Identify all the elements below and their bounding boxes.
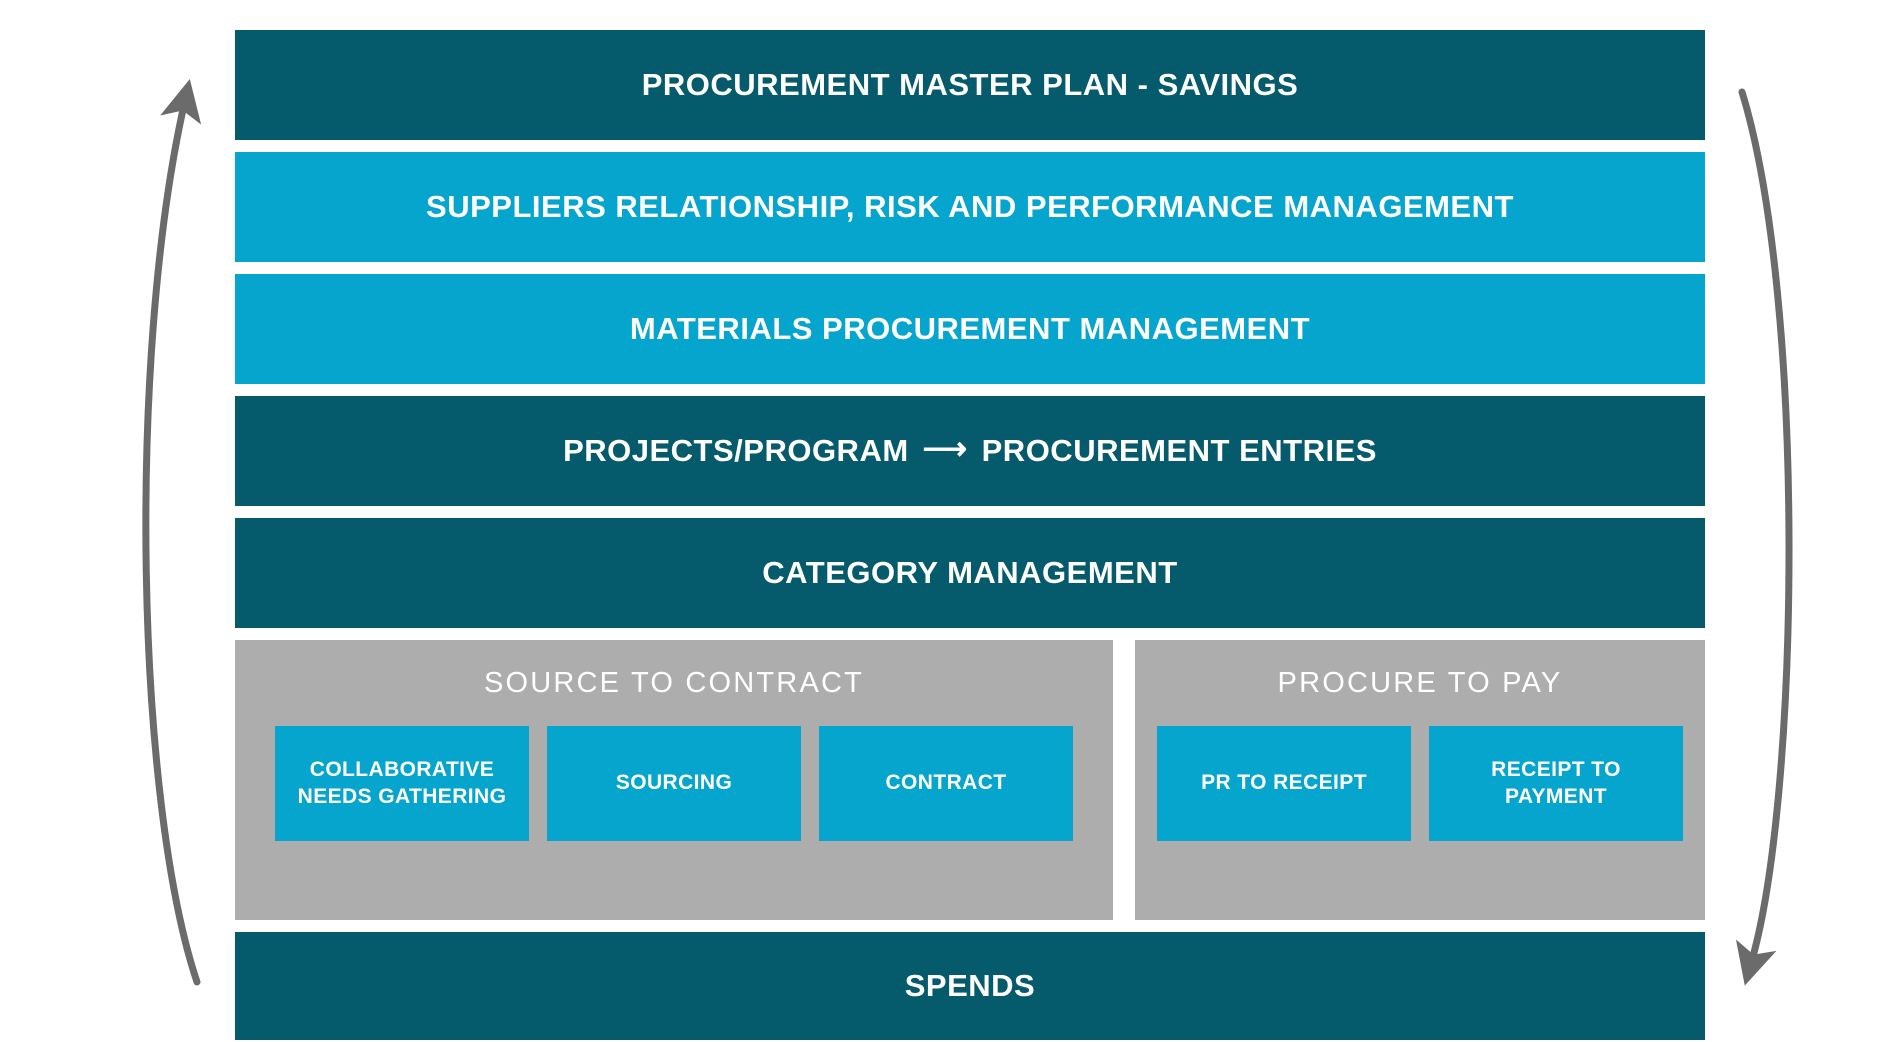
panel-source-to-contract[interactable]: SOURCE TO CONTRACT COLLABORATIVE NEEDS G… [235, 640, 1113, 920]
left-cycle-arrow-up [146, 105, 197, 982]
diagram-stack: PROCUREMENT MASTER PLAN - SAVINGS SUPPLI… [235, 30, 1705, 1040]
sub-box-label: RECEIPT TO PAYMENT [1439, 757, 1673, 810]
row-spends[interactable]: SPENDS [235, 932, 1705, 1040]
sub-box-label: PR TO RECEIPT [1201, 770, 1367, 796]
sub-box-contract[interactable]: CONTRACT [819, 726, 1073, 841]
row-procurement-master-plan[interactable]: PROCUREMENT MASTER PLAN - SAVINGS [235, 30, 1705, 140]
row-projects-to-procurement-entries[interactable]: PROJECTS/PROGRAM ⟶ PROCUREMENT ENTRIES [235, 396, 1705, 506]
process-panels-row: SOURCE TO CONTRACT COLLABORATIVE NEEDS G… [235, 640, 1705, 920]
panel-title-procure-to-pay: PROCURE TO PAY [1278, 667, 1563, 700]
right-arrow-icon: ⟶ [923, 431, 968, 467]
sub-box-receipt-to-payment[interactable]: RECEIPT TO PAYMENT [1429, 726, 1683, 841]
row-label-projects-program: PROJECTS/PROGRAM [563, 433, 909, 469]
sub-box-sourcing[interactable]: SOURCING [547, 726, 801, 841]
row-label-materials: MATERIALS PROCUREMENT MANAGEMENT [630, 311, 1310, 347]
row-label-category-management: CATEGORY MANAGEMENT [762, 555, 1177, 591]
sub-box-collaborative-needs-gathering[interactable]: COLLABORATIVE NEEDS GATHERING [275, 726, 529, 841]
sub-box-pr-to-receipt[interactable]: PR TO RECEIPT [1157, 726, 1411, 841]
panel-boxes-source-to-contract: COLLABORATIVE NEEDS GATHERING SOURCING C… [235, 726, 1113, 841]
sub-box-label: COLLABORATIVE NEEDS GATHERING [285, 757, 519, 810]
row-category-management[interactable]: CATEGORY MANAGEMENT [235, 518, 1705, 628]
diagram-canvas: PROCUREMENT MASTER PLAN - SAVINGS SUPPLI… [0, 0, 1896, 1042]
row-label-spends: SPENDS [905, 968, 1035, 1004]
row-label-master-plan: PROCUREMENT MASTER PLAN - SAVINGS [642, 67, 1299, 103]
panel-boxes-procure-to-pay: PR TO RECEIPT RECEIPT TO PAYMENT [1135, 726, 1705, 841]
row-label-procurement-entries: PROCUREMENT ENTRIES [982, 433, 1377, 469]
row-suppliers-relationship[interactable]: SUPPLIERS RELATIONSHIP, RISK AND PERFORM… [235, 152, 1705, 262]
row-label-srm: SUPPLIERS RELATIONSHIP, RISK AND PERFORM… [426, 189, 1514, 225]
panel-procure-to-pay[interactable]: PROCURE TO PAY PR TO RECEIPT RECEIPT TO … [1135, 640, 1705, 920]
right-cycle-arrow-down [1742, 92, 1789, 960]
panel-title-source-to-contract: SOURCE TO CONTRACT [484, 667, 864, 700]
sub-box-label: CONTRACT [885, 770, 1006, 796]
sub-box-label: SOURCING [616, 770, 732, 796]
row-materials-procurement-management[interactable]: MATERIALS PROCUREMENT MANAGEMENT [235, 274, 1705, 384]
